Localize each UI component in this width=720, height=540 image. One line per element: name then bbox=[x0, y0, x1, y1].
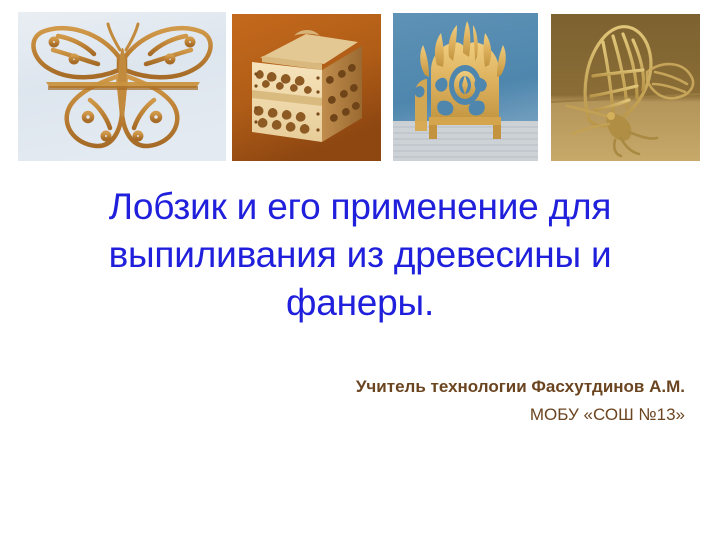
photo-butterfly-3d-model bbox=[551, 14, 700, 161]
title-line-2: выпиливания из древесины и bbox=[36, 231, 684, 279]
title-line-3: фанеры. bbox=[36, 279, 684, 327]
subtitle-school: МОБУ «СОШ №13» bbox=[180, 401, 685, 429]
subtitle-author: Учитель технологии Фасхутдинов А.М. bbox=[180, 373, 685, 401]
photo-butterfly-wall-shelf bbox=[18, 12, 226, 161]
presentation-slide: Лобзик и его применение для выпиливания … bbox=[0, 0, 720, 540]
slide-title: Лобзик и его применение для выпиливания … bbox=[36, 183, 684, 327]
photo-strip bbox=[0, 11, 720, 153]
slide-subtitle: Учитель технологии Фасхутдинов А.М. МОБУ… bbox=[180, 373, 685, 429]
title-line-1: Лобзик и его применение для bbox=[36, 183, 684, 231]
photo-napkin-holder bbox=[393, 13, 538, 161]
photo-carved-ornate-box bbox=[232, 14, 381, 161]
